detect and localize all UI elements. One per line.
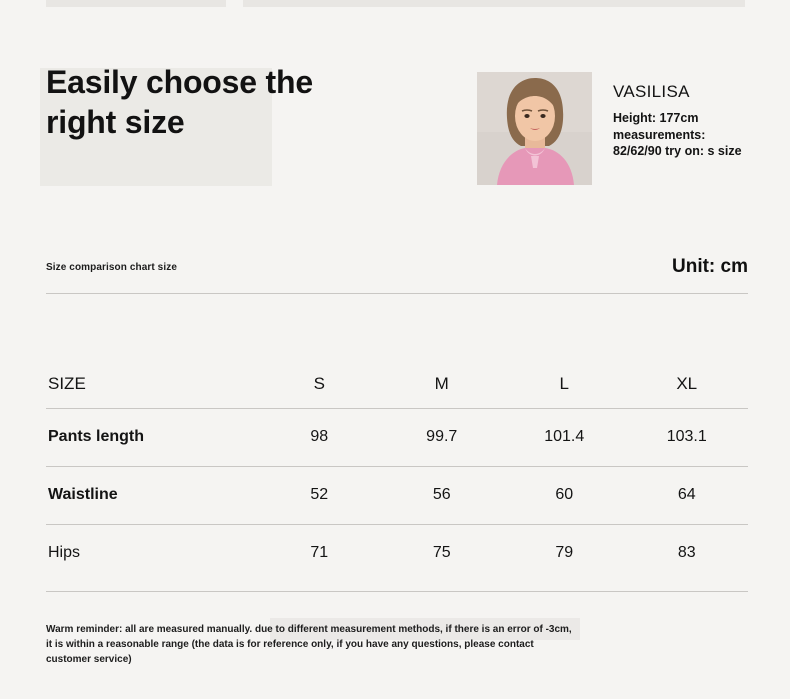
model-specs: Height: 177cm measurements: 82/62/90 try… [613,110,748,160]
table-row: Waistline 52 56 60 64 [46,466,748,524]
row-label-hips: Hips [46,544,258,562]
row-label-waistline: Waistline [46,486,258,504]
page-title-text: Easily choose the right size [46,64,313,140]
pants-length-m: 99.7 [381,428,504,446]
size-table: SIZE S M L XL Pants length 98 99.7 101.4… [46,360,748,582]
top-section-strip-left [46,0,226,7]
hips-xl: 83 [626,544,749,562]
pants-length-xl: 103.1 [626,428,749,446]
warm-reminder-note: Warm reminder: all are measured manually… [46,622,576,667]
table-row: Pants length 98 99.7 101.4 103.1 [46,408,748,466]
pants-length-l: 101.4 [503,428,626,446]
hips-l: 79 [503,544,626,562]
hips-m: 75 [381,544,504,562]
model-name: VASILISA [613,82,690,102]
table-row: Hips 71 75 79 83 [46,524,748,582]
page-title: Easily choose the right size [46,62,346,142]
table-header-size: SIZE [46,374,258,394]
top-section-strip-right [243,0,745,7]
size-chart-caption: Size comparison chart size [46,262,177,273]
table-header-row: SIZE S M L XL [46,360,748,408]
warm-reminder-text: Warm reminder: all are measured manually… [46,624,572,665]
table-header-xl: XL [626,374,749,394]
hips-s: 71 [258,544,381,562]
waistline-s: 52 [258,486,381,504]
waistline-m: 56 [381,486,504,504]
table-header-l: L [503,374,626,394]
waistline-l: 60 [503,486,626,504]
table-header-s: S [258,374,381,394]
table-header-m: M [381,374,504,394]
pants-length-s: 98 [258,428,381,446]
divider-top [46,293,748,294]
unit-label: Unit: cm [672,256,748,278]
row-label-pants-length: Pants length [46,428,258,446]
model-photo [477,72,592,185]
divider-bottom [46,591,748,592]
waistline-xl: 64 [626,486,749,504]
